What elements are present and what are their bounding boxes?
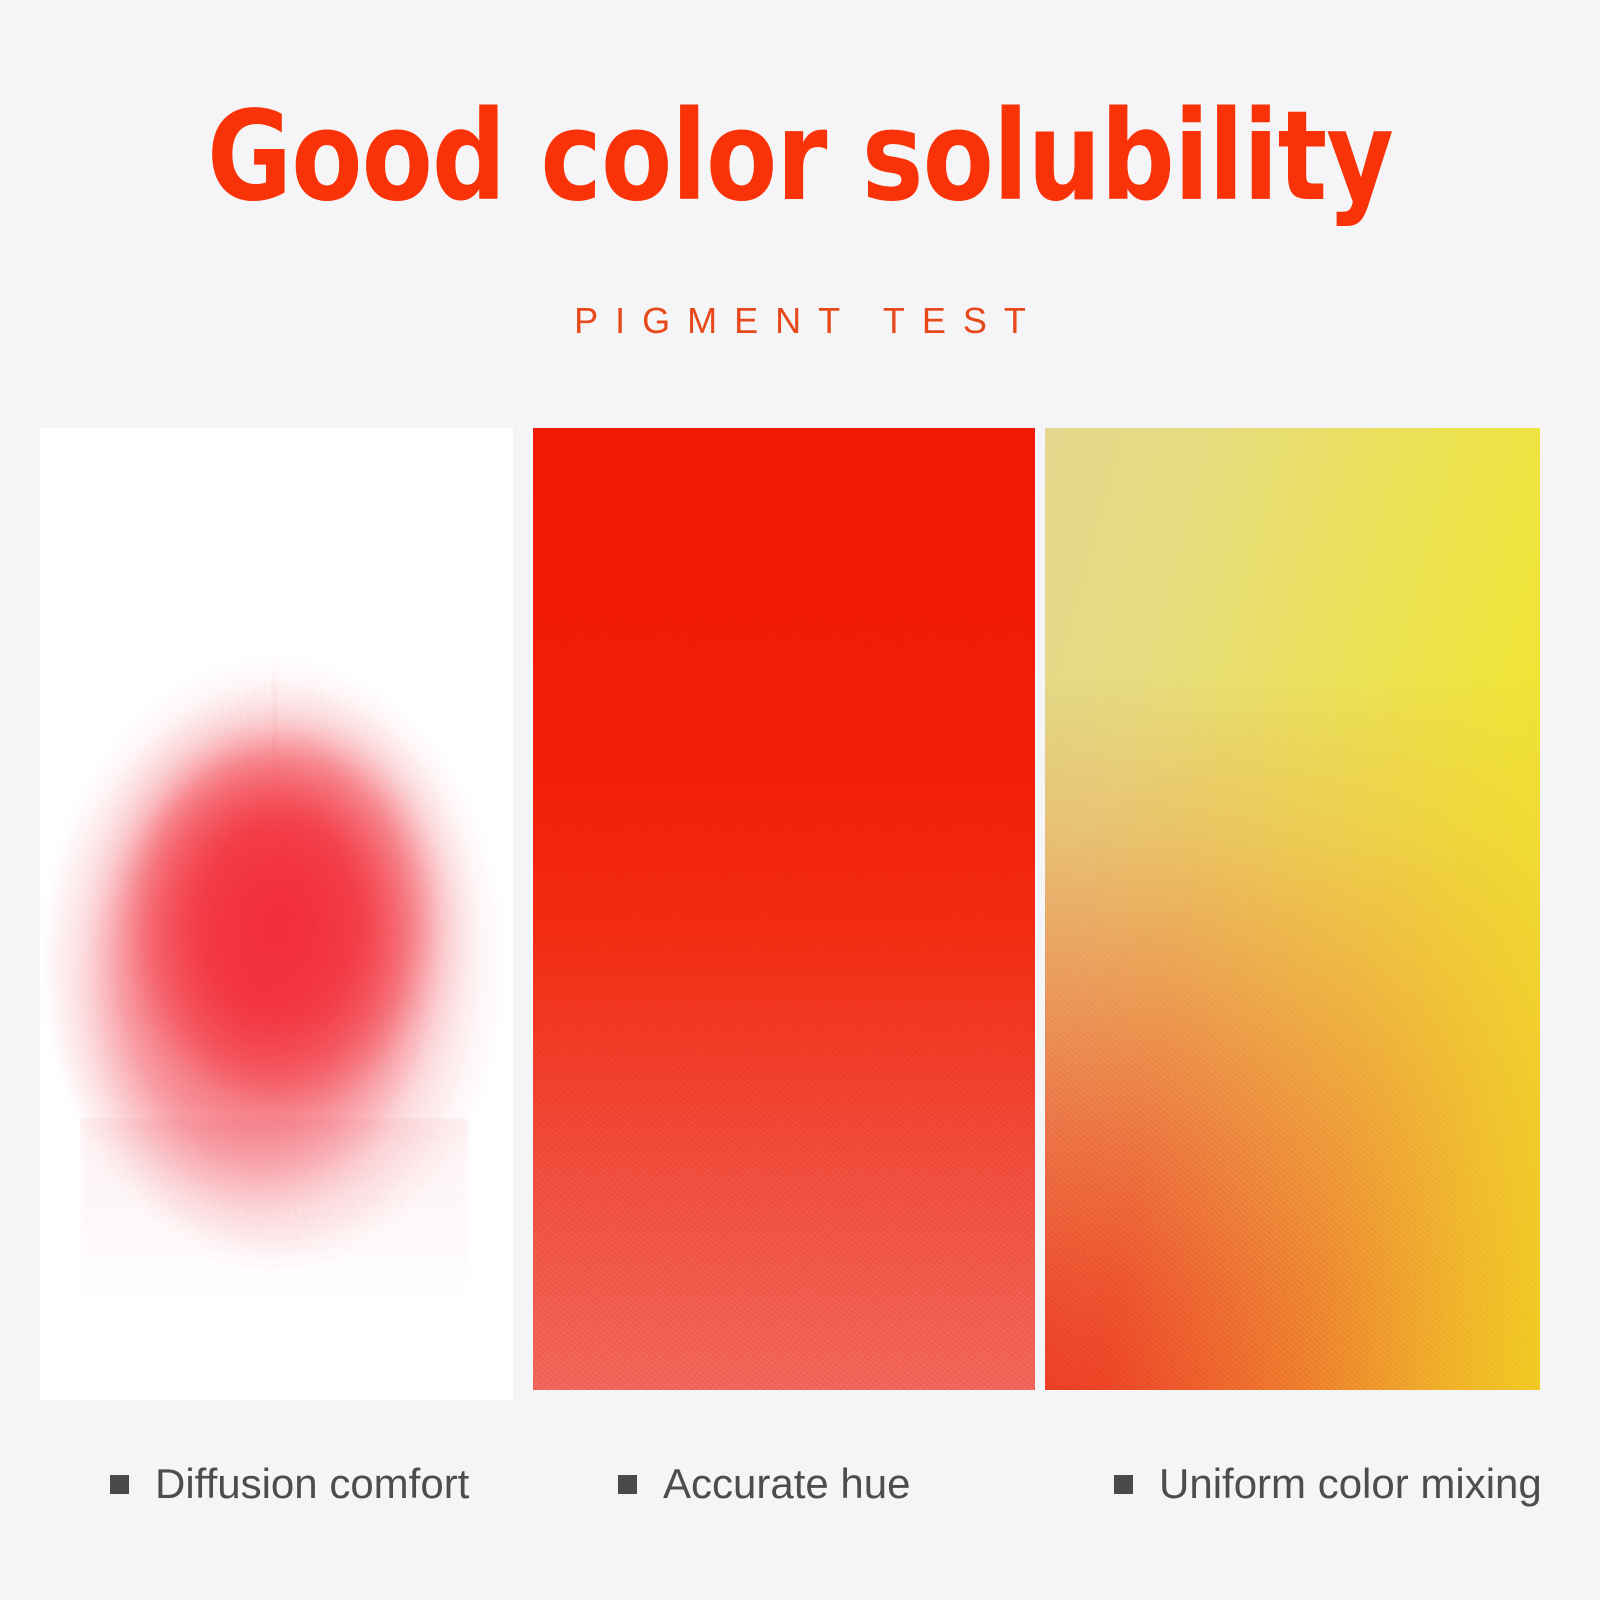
square-bullet-icon: [618, 1475, 637, 1494]
square-bullet-icon: [1114, 1475, 1133, 1494]
header: Good color solubility PIGMENT TEST: [0, 0, 1600, 420]
panel-hue-swatch: [533, 428, 1035, 1390]
caption-accurate-hue: Accurate hue: [618, 1452, 911, 1516]
hue-paper-texture-layer: [533, 428, 1035, 1390]
page-title: Good color solubility: [56, 92, 1544, 223]
panel-diffusion-swatch: [40, 428, 513, 1400]
square-bullet-icon: [110, 1475, 129, 1494]
pigment-test-panels: [0, 428, 1600, 1403]
panel-mixing-swatch: [1045, 428, 1540, 1390]
caption-label: Diffusion comfort: [155, 1463, 469, 1505]
blob-bleed-tail-layer: [80, 1118, 470, 1308]
caption-uniform-color-mixing: Uniform color mixing: [1114, 1452, 1542, 1516]
caption-diffusion-comfort: Diffusion comfort: [110, 1452, 469, 1516]
caption-row: Diffusion comfort Accurate hue Uniform c…: [0, 1452, 1600, 1532]
watercolor-blob: [40, 428, 513, 1400]
page-subtitle: PIGMENT TEST: [0, 300, 1600, 342]
caption-label: Accurate hue: [663, 1463, 911, 1505]
caption-label: Uniform color mixing: [1159, 1463, 1542, 1505]
mixing-paper-texture-layer: [1045, 428, 1540, 1390]
